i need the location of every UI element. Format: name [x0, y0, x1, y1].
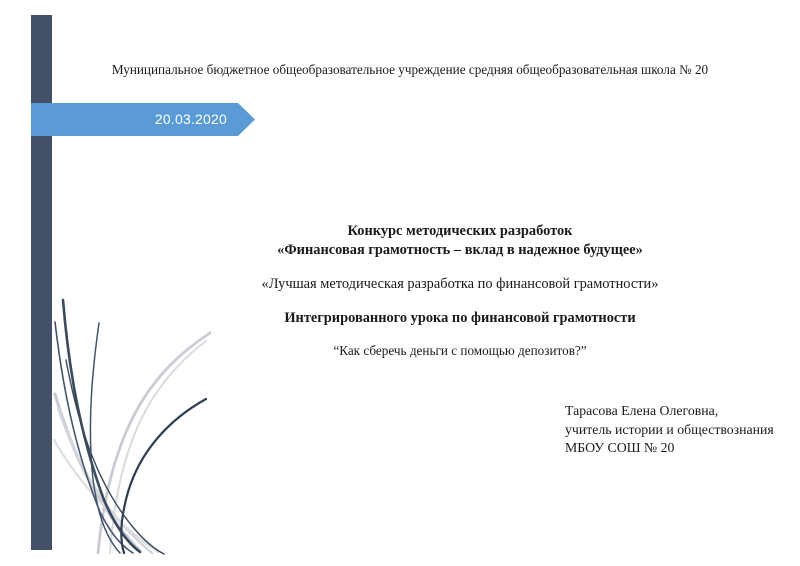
lesson-title-line: “Как сберечь деньги с помощью депозитов?…	[150, 341, 770, 360]
left-accent-bar	[31, 15, 52, 550]
contest-line-1: Конкурс методических разработок	[150, 222, 770, 241]
title-block: Конкурс методических разработок «Финансо…	[150, 222, 770, 360]
date-banner-label: 20.03.2020	[31, 103, 227, 136]
date-banner: 20.03.2020	[31, 103, 255, 136]
work-type-line: Интегрированного урока по финансовой гра…	[150, 309, 770, 328]
school-header: Муниципальное бюджетное общеобразователь…	[60, 61, 760, 79]
title-slide: 20.03.2020 Муниципальное бюджетное общео…	[0, 0, 800, 566]
spacer	[150, 260, 770, 275]
spacer	[150, 328, 770, 341]
author-name: Тарасова Елена Олеговна,	[565, 402, 800, 421]
nomination-line: «Лучшая методическая разработка по финан…	[150, 275, 770, 294]
author-position: учитель истории и обществознания	[565, 421, 800, 440]
author-block: Тарасова Елена Олеговна, учитель истории…	[430, 402, 800, 458]
author-organization: МБОУ СОШ № 20	[565, 439, 800, 458]
spacer	[150, 294, 770, 309]
contest-line-2: «Финансовая грамотность – вклад в надежн…	[150, 241, 770, 260]
